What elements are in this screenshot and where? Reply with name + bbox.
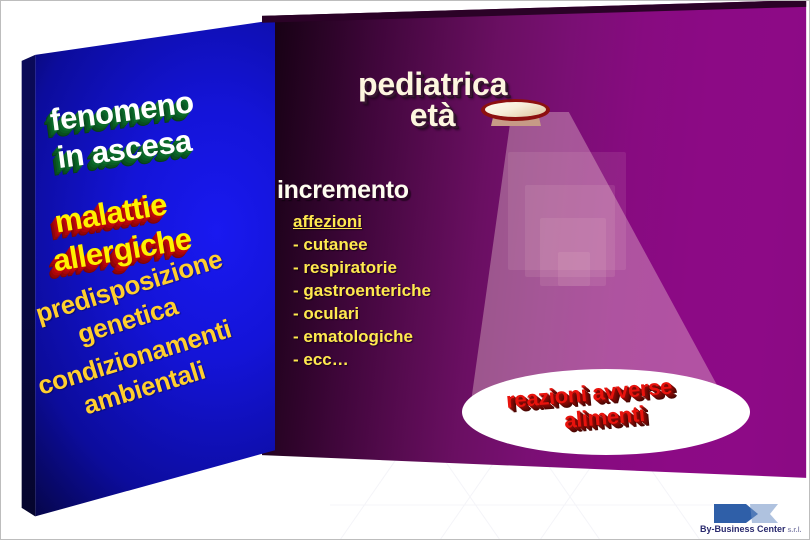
list-item: - gastroenteriche — [293, 279, 431, 302]
list-item: - ecc… — [293, 348, 431, 371]
affezioni-list: affezioni - cutanee - respiratorie - gas… — [293, 210, 431, 371]
list-item: - respiratorie — [293, 256, 431, 279]
list-item: - cutanee — [293, 233, 431, 256]
logo-suffix: s.r.l. — [786, 527, 802, 534]
logo-name: By-Business Center — [700, 524, 786, 534]
list-item: - oculari — [293, 302, 431, 325]
logo-chevron-icon — [712, 498, 782, 524]
title-line2: età — [358, 97, 507, 134]
logo: By-Business Center s.r.l. — [700, 494, 808, 536]
affezioni-list-title: affezioni — [293, 210, 431, 233]
heading-incremento: incremento — [277, 176, 409, 205]
list-item: - ematologiche — [293, 325, 431, 348]
slide-canvas: fenomeno in ascesa malattie allergiche p… — [0, 0, 810, 540]
slide-title: pediatrica età — [358, 66, 507, 134]
logo-text: By-Business Center s.r.l. — [700, 524, 808, 534]
